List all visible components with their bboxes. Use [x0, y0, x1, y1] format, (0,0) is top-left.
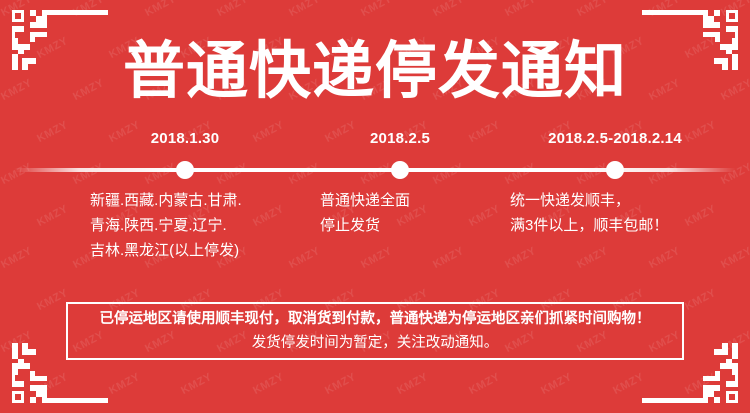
- timeline-body-1-line-2: 青海.陕西.宁夏.辽宁.: [90, 213, 242, 238]
- timeline-body-2: 普通快递全面 停止发货: [320, 188, 410, 238]
- watermark-text: KMZY: [395, 371, 430, 397]
- watermark-text: KMZY: [359, 0, 394, 19]
- notice-box: 已停运地区请使用顺丰现付，取消货到付款，普通快递为停运地区亲们抓紧时间购物！ 发…: [66, 302, 684, 360]
- chinese-meander-corner-icon-bottom-left: [12, 343, 108, 403]
- timeline-body-1-line-1: 新疆.西藏.内蒙古.甘肃.: [90, 188, 242, 213]
- chinese-meander-corner-icon-bottom-right: [642, 343, 738, 403]
- chinese-meander-corner-icon-top-left: [12, 10, 108, 70]
- delivery-suspension-notice-poster: KMZYKMZYKMZYKMZYKMZYKMZYKMZYKMZYKMZYKMZY…: [0, 0, 750, 413]
- timeline-body-2-line-2: 停止发货: [320, 213, 410, 238]
- timeline-rail: [14, 168, 736, 172]
- watermark-text: KMZY: [539, 371, 574, 397]
- chinese-meander-corner-icon-top-right: [642, 10, 738, 70]
- timeline-body-2-line-1: 普通快递全面: [320, 188, 410, 213]
- watermark-text: KMZY: [179, 371, 214, 397]
- timeline-body-1-line-3: 吉林.黑龙江(以上停发): [90, 238, 242, 263]
- timeline-body-3: 统一快递发顺丰， 满3件以上，顺丰包邮！: [510, 188, 668, 238]
- page-title: 普通快递停发通知: [0, 34, 750, 110]
- timeline: 2018.1.30 新疆.西藏.内蒙古.甘肃. 青海.陕西.宁夏.辽宁. 吉林.…: [0, 120, 750, 290]
- watermark-text: KMZY: [467, 371, 502, 397]
- notice-line-1: 已停运地区请使用顺丰现付，取消货到付款，普通快递为停运地区亲们抓紧时间购物！: [100, 307, 651, 331]
- watermark-text: KMZY: [611, 371, 646, 397]
- watermark-text: KMZY: [143, 0, 178, 19]
- timeline-body-3-line-1: 统一快递发顺丰，: [510, 188, 668, 213]
- watermark-text: KMZY: [503, 0, 538, 19]
- timeline-body-3-line-2: 满3件以上，顺丰包邮！: [510, 213, 668, 238]
- notice-line-2: 发货停发时间为暂定，关注改动通知。: [252, 331, 499, 355]
- watermark-text: KMZY: [215, 0, 250, 19]
- timeline-date-3: 2018.2.5-2018.2.14: [548, 130, 682, 147]
- watermark-text: KMZY: [431, 0, 466, 19]
- timeline-date-1: 2018.1.30: [151, 130, 220, 147]
- watermark-text: KMZY: [107, 371, 142, 397]
- watermark-text: KMZY: [323, 371, 358, 397]
- watermark-text: KMZY: [35, 287, 70, 313]
- timeline-dot-1: [176, 161, 194, 179]
- timeline-dot-3: [606, 161, 624, 179]
- timeline-date-2: 2018.2.5: [370, 130, 430, 147]
- timeline-body-1: 新疆.西藏.内蒙古.甘肃. 青海.陕西.宁夏.辽宁. 吉林.黑龙江(以上停发): [90, 188, 242, 263]
- watermark-text: KMZY: [575, 0, 610, 19]
- watermark-text: KMZY: [287, 0, 322, 19]
- watermark-text: KMZY: [683, 287, 718, 313]
- timeline-dot-2: [391, 161, 409, 179]
- watermark-text: KMZY: [251, 371, 286, 397]
